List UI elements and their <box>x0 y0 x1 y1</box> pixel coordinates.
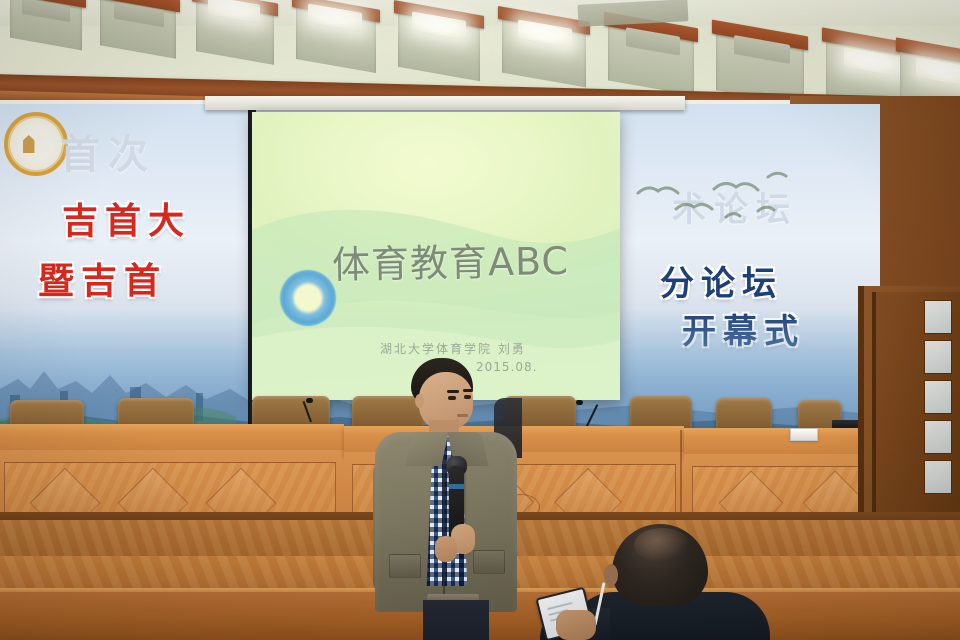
door-glass-panel <box>924 420 952 454</box>
university-seal-icon <box>4 112 68 176</box>
banner-red-line-2: 暨吉首 <box>38 252 167 304</box>
nameplate <box>790 428 818 441</box>
desk-microphone-head <box>576 400 583 405</box>
door-glass-panel <box>924 300 952 334</box>
door-glass-panel <box>924 460 952 494</box>
banner-ghost-line: 首次 <box>60 122 156 180</box>
chair-back <box>716 398 772 432</box>
banner-blue-line-1: 分论坛 <box>660 256 783 305</box>
door-glass-panel <box>924 340 952 374</box>
projection-screen-housing <box>205 96 685 110</box>
audience-ear <box>604 564 618 586</box>
door-glass-panel <box>924 380 952 414</box>
audience-scalp <box>634 528 690 562</box>
projection-screen: 体育教育ABC 湖北大学体育学院 刘勇 2015.08. <box>252 112 620 400</box>
banner-red-line-1: 吉首大 <box>62 192 191 244</box>
audience-hand <box>556 610 596 640</box>
birds-icon <box>630 159 820 249</box>
audience-member <box>540 524 770 640</box>
presenter-hand <box>435 536 457 562</box>
slide-orb-graphic <box>280 270 336 326</box>
slide-title: 体育教育ABC <box>332 230 570 289</box>
presenter-ear <box>415 394 424 408</box>
presenter-trousers <box>423 600 489 640</box>
microphone-band <box>449 484 464 489</box>
desk-microphone-head <box>306 398 313 403</box>
chair-back <box>630 396 692 430</box>
presenter <box>373 358 519 640</box>
slide-subtitle: 湖北大学体育学院 刘勇 <box>380 340 526 357</box>
conference-hall-photo: 首次 吉首大 暨吉首 术论坛 分论坛 开幕式 <box>0 0 960 640</box>
